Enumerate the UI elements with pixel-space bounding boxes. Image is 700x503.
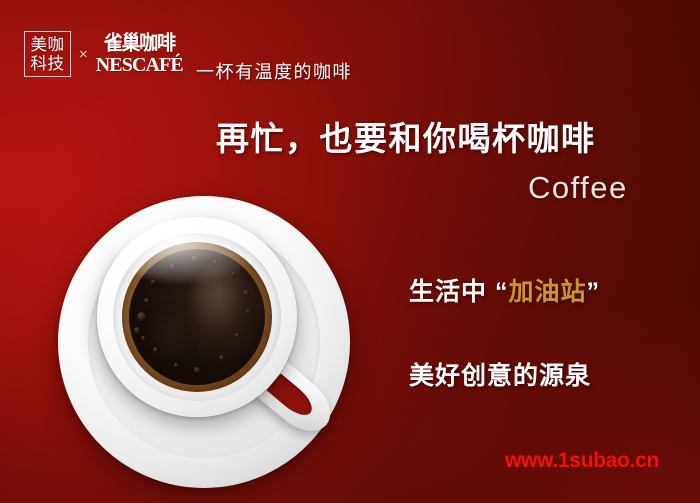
tagline-primary-suffix: ” <box>586 278 600 306</box>
cup-body <box>97 217 297 417</box>
partner-logo-line2: 科技 <box>31 56 65 73</box>
partner-logo-line1: 美咖 <box>31 37 65 54</box>
coffee-cup-illustration <box>50 196 370 503</box>
coffee-word-text: Coffee <box>528 170 628 206</box>
logo-lockup: 美咖 科技 × 雀巢咖啡 NESCAFÉ <box>24 31 183 77</box>
logo-separator-icon: × <box>79 47 88 62</box>
tagline-primary-prefix: 生活中 “ <box>409 278 508 306</box>
partner-logo-meika: 美咖 科技 <box>24 31 71 77</box>
coffee-surface <box>129 249 265 385</box>
nescafe-logo-chinese: 雀巢咖啡 <box>104 33 175 53</box>
coffee-crema-ring <box>122 242 272 392</box>
tagline-secondary: 美好创意的源泉 <box>409 356 591 392</box>
tagline-primary: 生活中 “加油站” <box>409 272 600 308</box>
site-watermark: www.1subao.cn <box>505 449 659 473</box>
coffee-bubbles <box>129 249 265 385</box>
headline-text: 再忙，也要和你喝杯咖啡 <box>216 112 596 160</box>
subhead-text: 一杯有温度的咖啡 <box>196 58 352 84</box>
promo-banner: 美咖 科技 × 雀巢咖啡 NESCAFÉ 一杯有温度的咖啡 再忙，也要和你喝杯咖… <box>0 0 700 503</box>
nescafe-logo: 雀巢咖啡 NESCAFÉ <box>96 34 183 75</box>
cup-inner-wall <box>113 233 281 401</box>
nescafe-logo-english: NESCAFÉ <box>96 55 183 75</box>
tagline-primary-highlight: 加油站 <box>508 278 586 306</box>
